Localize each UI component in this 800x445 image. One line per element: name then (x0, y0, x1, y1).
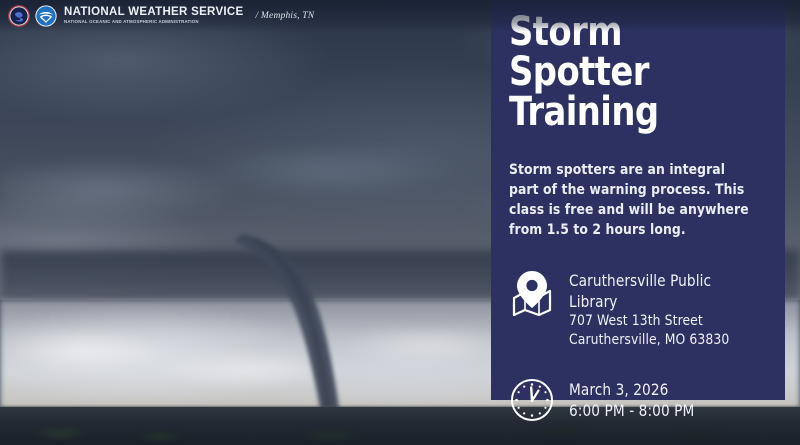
graphic-canvas: NATIONAL WEATHER SERVICE NATIONAL OCEANI… (0, 0, 800, 445)
agency-branding: NATIONAL WEATHER SERVICE NATIONAL OCEANI… (64, 7, 244, 25)
event-time-range: 6:00 PM - 8:00 PM (569, 400, 694, 421)
event-info-panel: Storm Spotter Training Storm spotters ar… (491, 0, 785, 400)
nws-logo-icon (8, 5, 30, 27)
venue-city-state-zip: Caruthersville, MO 63830 (569, 331, 759, 350)
event-description: Storm spotters are an integral part of t… (509, 160, 756, 240)
agency-subtitle: NATIONAL OCEANIC AND ATMOSPHERIC ADMINIS… (64, 19, 244, 25)
office-label: / Memphis, TN (256, 11, 315, 21)
venue-street: 707 West 13th Street (569, 312, 759, 331)
nws-header-bar: NATIONAL WEATHER SERVICE NATIONAL OCEANI… (0, 0, 800, 32)
venue-name: Caruthersville Public Library (569, 270, 759, 312)
schedule-text: March 3, 2026 6:00 PM - 8:00 PM (569, 379, 694, 421)
location-text: Caruthersville Public Library 707 West 1… (569, 270, 759, 350)
map-pin-icon (509, 270, 555, 316)
location-block: Caruthersville Public Library 707 West 1… (509, 270, 769, 350)
schedule-block: March 3, 2026 6:00 PM - 8:00 PM (509, 378, 769, 422)
event-date: March 3, 2026 (569, 379, 694, 400)
agency-name: NATIONAL WEATHER SERVICE (64, 7, 244, 18)
noaa-logo-icon (35, 5, 57, 27)
clock-icon (509, 378, 555, 422)
